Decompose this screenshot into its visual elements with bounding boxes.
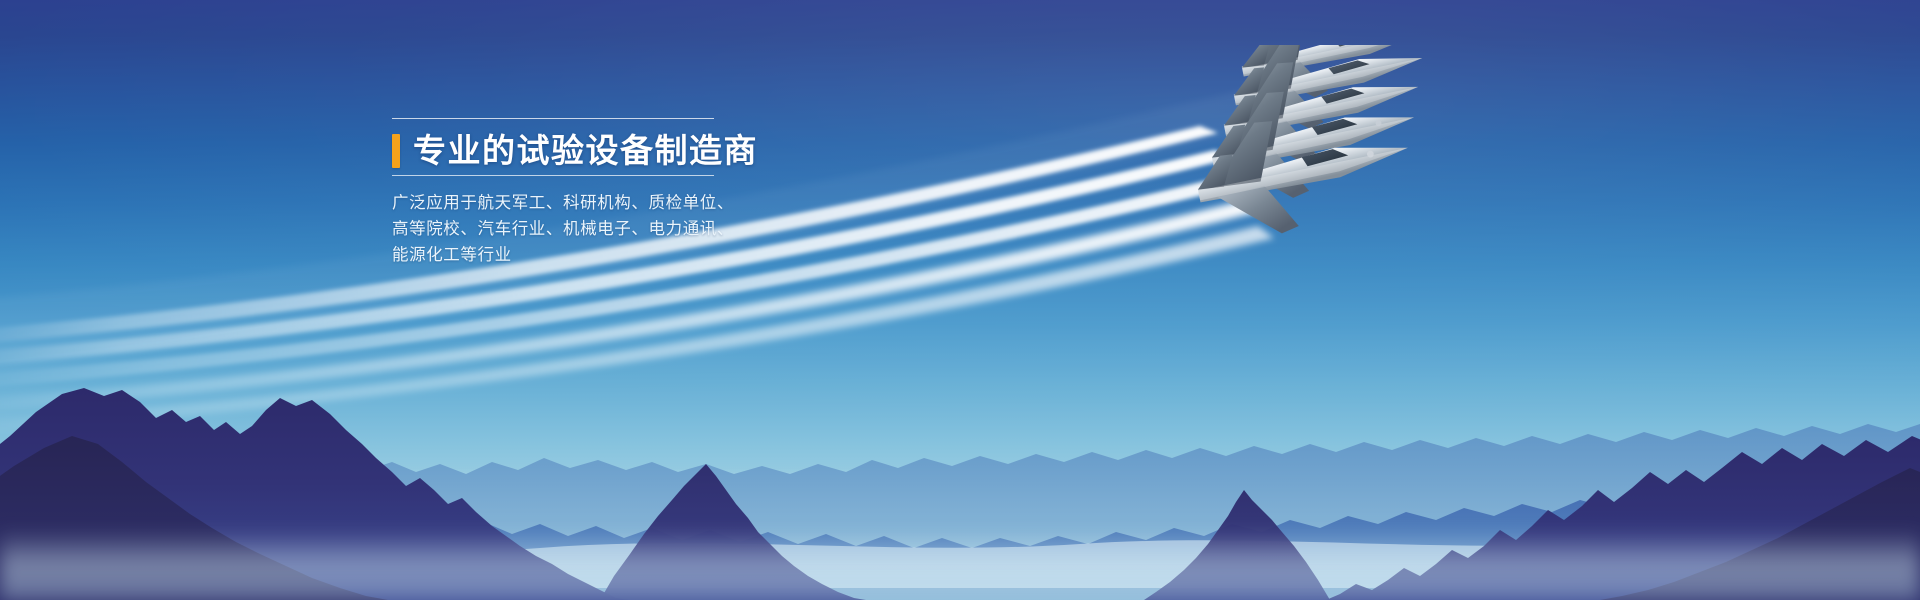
page-title: 专业的试验设备制造商 [413,133,758,169]
subtitle-line-3: 能源化工等行业 [392,242,812,268]
subtitle-line-2: 高等院校、汽车行业、机械电子、电力通讯、 [392,216,812,242]
title-row: 专业的试验设备制造商 [392,133,812,169]
banner-subtitle: 广泛应用于航天军工、科研机构、质检单位、 高等院校、汽车行业、机械电子、电力通讯… [392,190,812,268]
hero-banner: 专业的试验设备制造商 广泛应用于航天军工、科研机构、质检单位、 高等院校、汽车行… [0,0,1920,600]
subtitle-line-1: 广泛应用于航天军工、科研机构、质检单位、 [392,190,812,216]
fighter-jet-formation-icon [1120,45,1510,265]
banner-copy-block: 专业的试验设备制造商 广泛应用于航天军工、科研机构、质检单位、 高等院校、汽车行… [392,118,812,268]
mountain-range-icon [0,340,1920,600]
divider-bottom [392,175,714,176]
accent-bar-icon [392,134,400,168]
divider-top [392,118,714,119]
